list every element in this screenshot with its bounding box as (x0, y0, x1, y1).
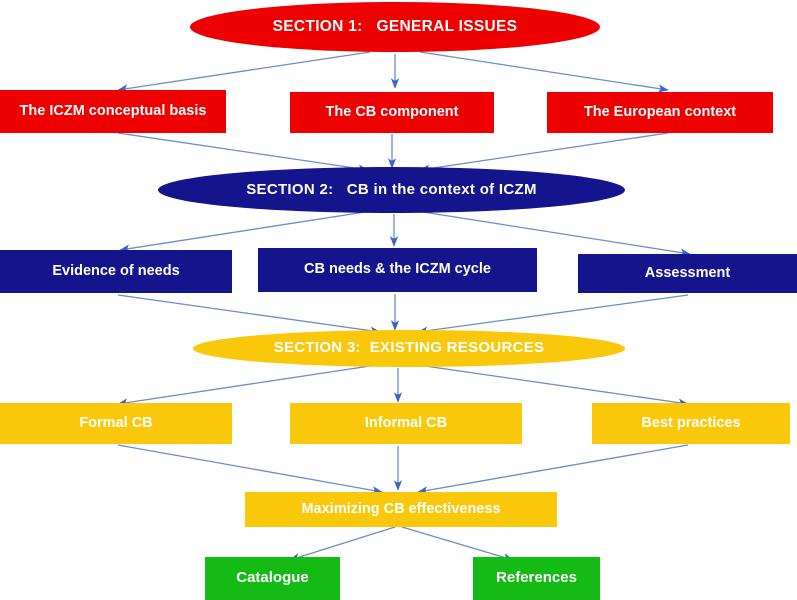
node-evidence-of-needs-label: Evidence of needs (52, 264, 179, 280)
node-cb-needs-iczm-cycle-label: CB needs & the ICZM cycle (304, 262, 491, 278)
node-best-practices[interactable]: Best practices (592, 403, 790, 444)
node-assessment[interactable]: Assessment (578, 254, 797, 293)
node-european-context[interactable]: The European context (547, 92, 773, 133)
node-maximizing-cb-effectiveness[interactable]: Maximizing CB effectiveness (245, 492, 557, 527)
node-iczm-conceptual-basis[interactable]: The ICZM conceptual basis (0, 90, 226, 133)
section-1-header-ellipse[interactable]: SECTION 1: GENERAL ISSUES (190, 2, 600, 52)
node-assessment-label: Assessment (645, 266, 730, 282)
section-3-header-label: SECTION 3: EXISTING RESOURCES (274, 340, 545, 357)
section-1-header-label: SECTION 1: GENERAL ISSUES (273, 18, 518, 35)
node-informal-cb[interactable]: Informal CB (290, 403, 522, 444)
node-best-practices-label: Best practices (641, 416, 740, 432)
node-catalogue-label: Catalogue (236, 570, 309, 587)
node-iczm-conceptual-basis-label: The ICZM conceptual basis (20, 104, 207, 120)
flowchart-diagram: SECTION 1: GENERAL ISSUES The ICZM conce… (0, 0, 797, 600)
node-cb-needs-iczm-cycle[interactable]: CB needs & the ICZM cycle (258, 248, 537, 292)
node-formal-cb[interactable]: Formal CB (0, 403, 232, 444)
node-references[interactable]: References (473, 557, 600, 600)
node-maximizing-cb-effectiveness-label: Maximizing CB effectiveness (301, 502, 500, 518)
node-evidence-of-needs[interactable]: Evidence of needs (0, 250, 232, 293)
node-formal-cb-label: Formal CB (79, 416, 152, 432)
node-catalogue[interactable]: Catalogue (205, 557, 340, 600)
node-european-context-label: The European context (584, 105, 736, 121)
node-references-label: References (496, 570, 577, 587)
section-2-header-label: SECTION 2: CB in the context of ICZM (246, 182, 537, 199)
section-2-header-ellipse[interactable]: SECTION 2: CB in the context of ICZM (158, 167, 625, 213)
node-cb-component[interactable]: The CB component (290, 92, 494, 133)
node-informal-cb-label: Informal CB (365, 416, 447, 432)
section-3-header-ellipse[interactable]: SECTION 3: EXISTING RESOURCES (193, 330, 625, 367)
node-cb-component-label: The CB component (326, 105, 459, 121)
